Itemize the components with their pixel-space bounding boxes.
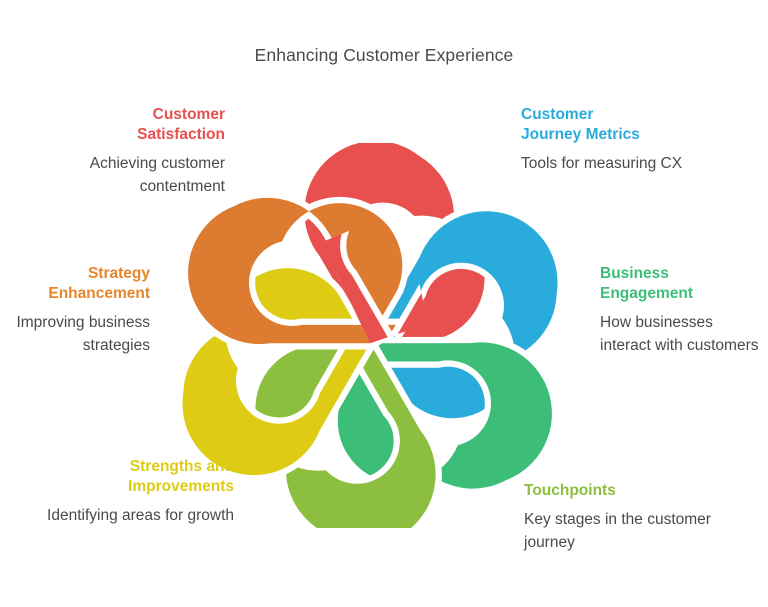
label-touchpoints: Touchpoints Key stages in the customer j…: [524, 481, 749, 554]
label-body: Key stages in the customer journey: [524, 509, 749, 554]
label-strengths-and-improvements: Strengths and Improvements Identifying a…: [30, 457, 234, 528]
label-strategy-enhancement: Strategy Enhancement Improving business …: [10, 264, 150, 357]
heading-line-1: Strengths and: [130, 458, 234, 475]
heading-line-1: Touchpoints: [524, 482, 616, 499]
label-heading: Strategy Enhancement: [10, 264, 150, 304]
label-heading: Customer Satisfaction: [20, 105, 225, 145]
label-heading: Strengths and Improvements: [30, 457, 234, 497]
heading-line-2: Improvements: [128, 478, 234, 495]
heading-line-1: Customer: [521, 106, 593, 123]
page-title: Enhancing Customer Experience: [0, 45, 768, 66]
label-body: Improving business strategies: [10, 312, 150, 357]
label-business-engagement: Business Engagement How businesses inter…: [600, 264, 760, 357]
heading-line-2: Journey Metrics: [521, 126, 640, 143]
heading-line-2: Enhancement: [48, 285, 150, 302]
label-body: Identifying areas for growth: [30, 505, 234, 528]
label-heading: Customer Journey Metrics: [521, 105, 746, 145]
heading-line-1: Business: [600, 265, 669, 282]
label-body: Achieving customer contentment: [20, 153, 225, 198]
label-heading: Business Engagement: [600, 264, 760, 304]
label-body: Tools for measuring CX: [521, 153, 746, 176]
heading-line-1: Strategy: [88, 265, 150, 282]
heading-line-2: Satisfaction: [137, 126, 225, 143]
label-heading: Touchpoints: [524, 481, 749, 501]
label-customer-journey-metrics: Customer Journey Metrics Tools for measu…: [521, 105, 746, 176]
heading-line-1: Customer: [153, 106, 225, 123]
heading-line-2: Engagement: [600, 285, 693, 302]
infographic-root: Enhancing Customer Experience: [0, 0, 768, 607]
label-customer-satisfaction: Customer Satisfaction Achieving customer…: [20, 105, 225, 198]
label-body: How businesses interact with customers: [600, 312, 760, 357]
